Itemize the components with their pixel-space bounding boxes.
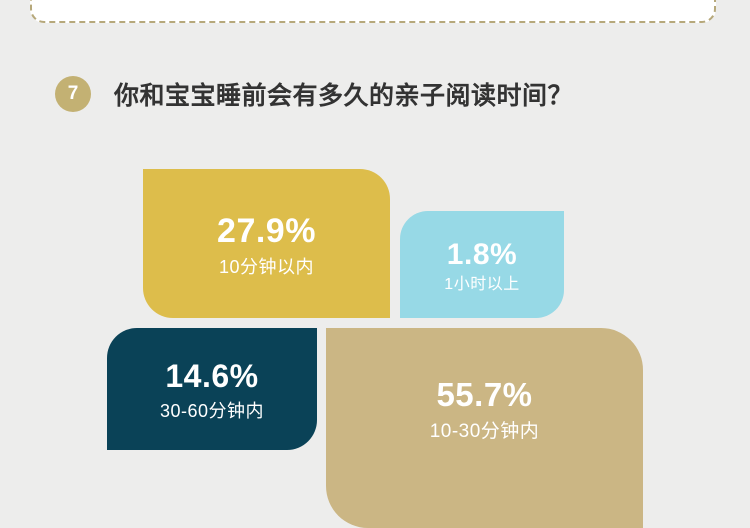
question-number-label: 7 [68,84,79,103]
stat-block-10-minutes[interactable]: 27.9% 10分钟以内 [143,169,390,318]
question-number-badge: 7 [55,76,91,112]
stat-label: 30-60分钟内 [160,401,264,423]
stat-block-30-60-minutes[interactable]: 14.6% 30-60分钟内 [107,328,317,450]
question-title: 你和宝宝睡前会有多久的亲子阅读时间？ [114,76,573,112]
stat-label: 1小时以上 [444,275,519,294]
stat-percent: 1.8% [447,239,517,271]
stat-percent: 55.7% [436,378,532,413]
stat-block-1-hour-plus[interactable]: 1.8% 1小时以上 [400,211,564,318]
stat-percent: 27.9% [217,214,316,250]
stat-label: 10-30分钟内 [430,421,540,444]
question-header: 7 你和宝宝睡前会有多久的亲子阅读时间？ [55,76,573,112]
stat-label: 10分钟以内 [219,257,314,279]
stat-percent: 14.6% [165,360,258,394]
dashed-outline-card [30,0,716,23]
stat-block-10-30-minutes[interactable]: 55.7% 10-30分钟内 [326,328,643,528]
infographic-page: 7 你和宝宝睡前会有多久的亲子阅读时间？ 27.9% 10分钟以内 1.8% 1… [0,0,750,500]
